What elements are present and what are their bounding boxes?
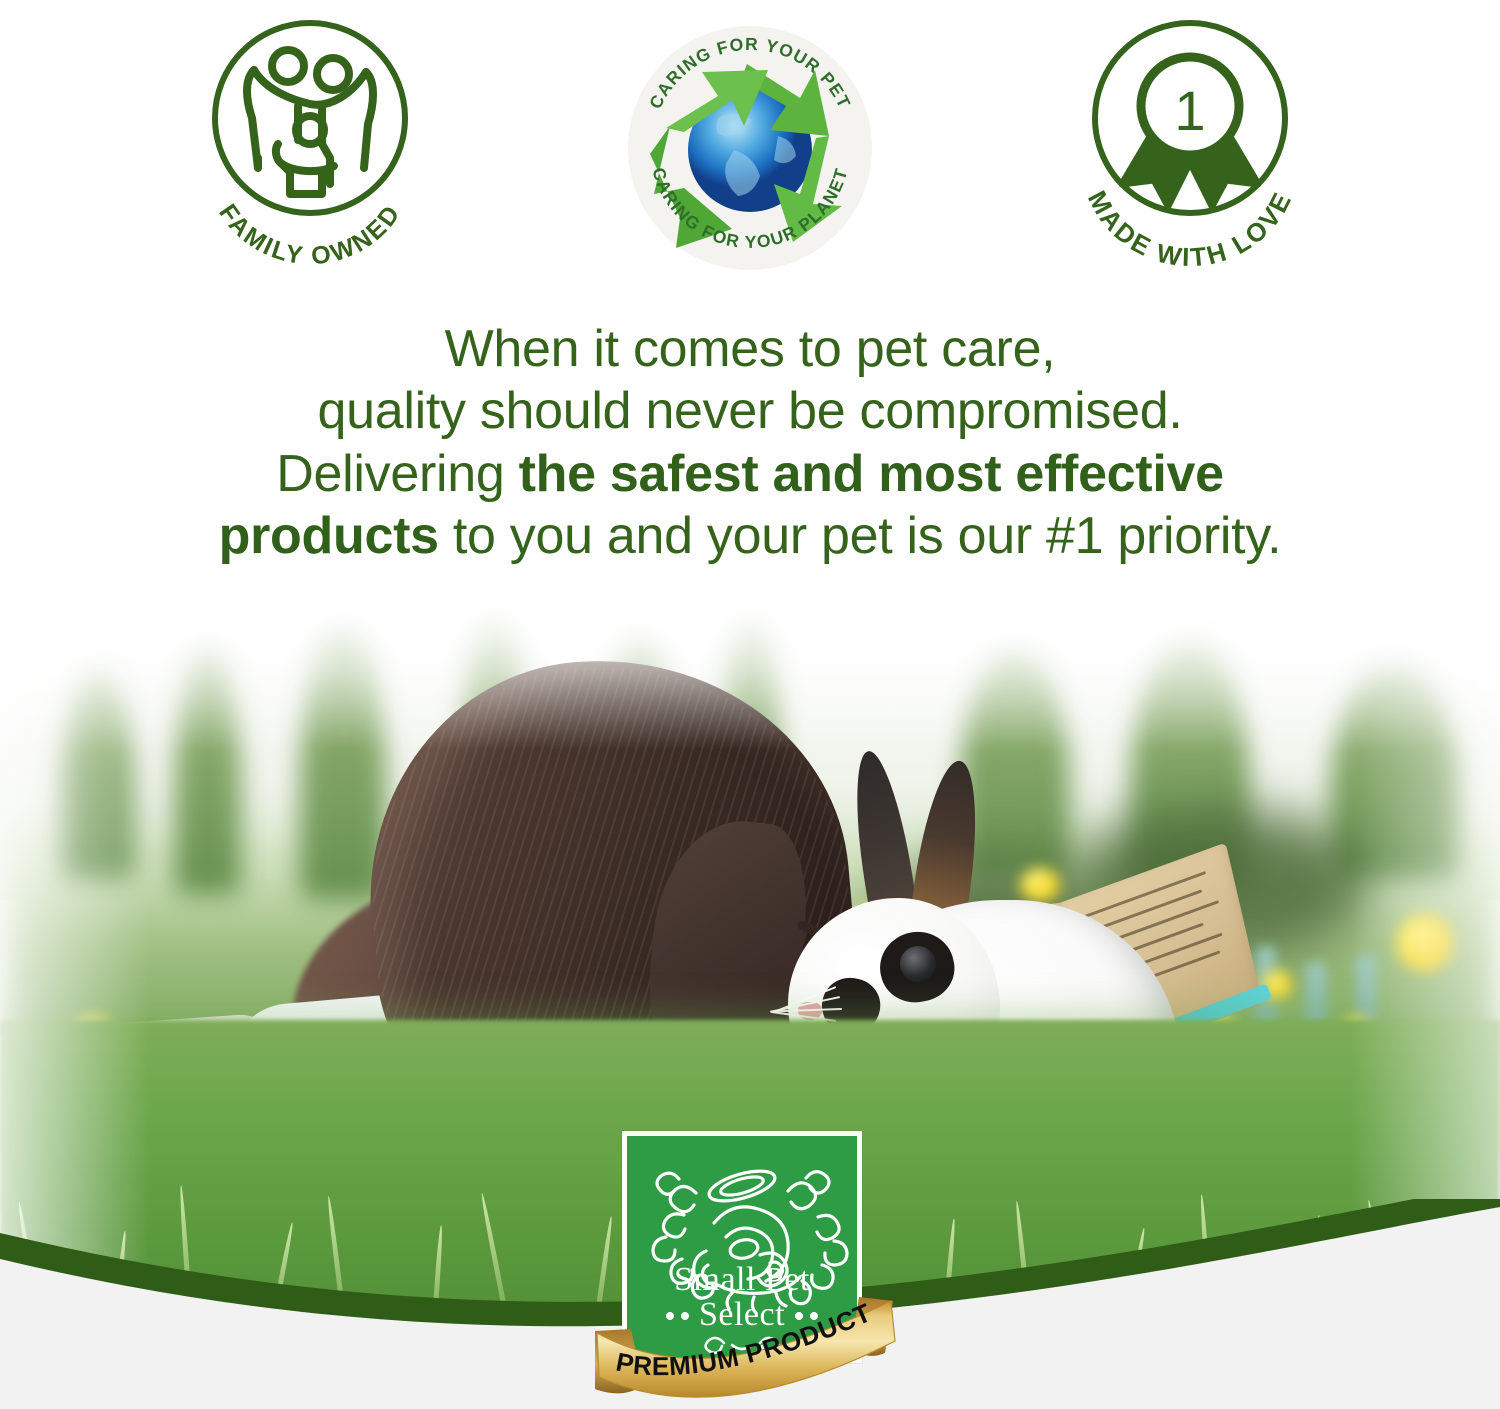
headline-line-4-bold: products xyxy=(219,507,439,565)
family-figures-icon xyxy=(247,50,373,194)
made-with-love-badge-svg: 1 MADE WITH LOVE xyxy=(1050,8,1330,288)
promo-banner: FAMILY OWNED xyxy=(0,0,1500,1409)
headline-line-4-text: to you and your pet is our #1 priority. xyxy=(439,507,1282,565)
ribbon-svg: PREMIUM PRODUCT xyxy=(591,1293,901,1403)
premium-product-ribbon: PREMIUM PRODUCT xyxy=(591,1293,901,1403)
badge-made-with-love-label: MADE WITH LOVE xyxy=(1082,186,1298,273)
caring-planet-badge-svg: CARING FOR YOUR PET CARING FOR YOUR PLAN… xyxy=(610,8,890,288)
medal-number: 1 xyxy=(1174,79,1205,142)
headline-line-1: When it comes to pet care, xyxy=(90,318,1410,380)
trust-badges-row: FAMILY OWNED xyxy=(0,0,1500,290)
badge-caring-planet: CARING FOR YOUR PET CARING FOR YOUR PLAN… xyxy=(610,8,890,288)
headline: When it comes to pet care, quality shoul… xyxy=(0,318,1500,568)
rabbit-eye xyxy=(900,946,936,982)
badge-family-owned: FAMILY OWNED xyxy=(170,8,450,288)
headline-line-3-bold: the safest and most effective xyxy=(519,445,1224,503)
badge-family-owned-label: FAMILY OWNED xyxy=(213,199,406,271)
ribbon-text: PREMIUM PRODUCT xyxy=(614,1297,876,1381)
headline-line-3-text: Delivering xyxy=(276,445,518,503)
headline-line-4: products to you and your pet is our #1 p… xyxy=(90,505,1410,567)
badge-made-with-love: 1 MADE WITH LOVE xyxy=(1050,8,1330,288)
brand-logo[interactable]: Small Pet Select xyxy=(622,1131,870,1379)
daffodil-flower xyxy=(1396,914,1454,972)
headline-line-2: quality should never be compromised. xyxy=(90,380,1410,442)
headline-line-3: Delivering the safest and most effective xyxy=(90,443,1410,505)
family-owned-badge-svg: FAMILY OWNED xyxy=(170,8,450,288)
